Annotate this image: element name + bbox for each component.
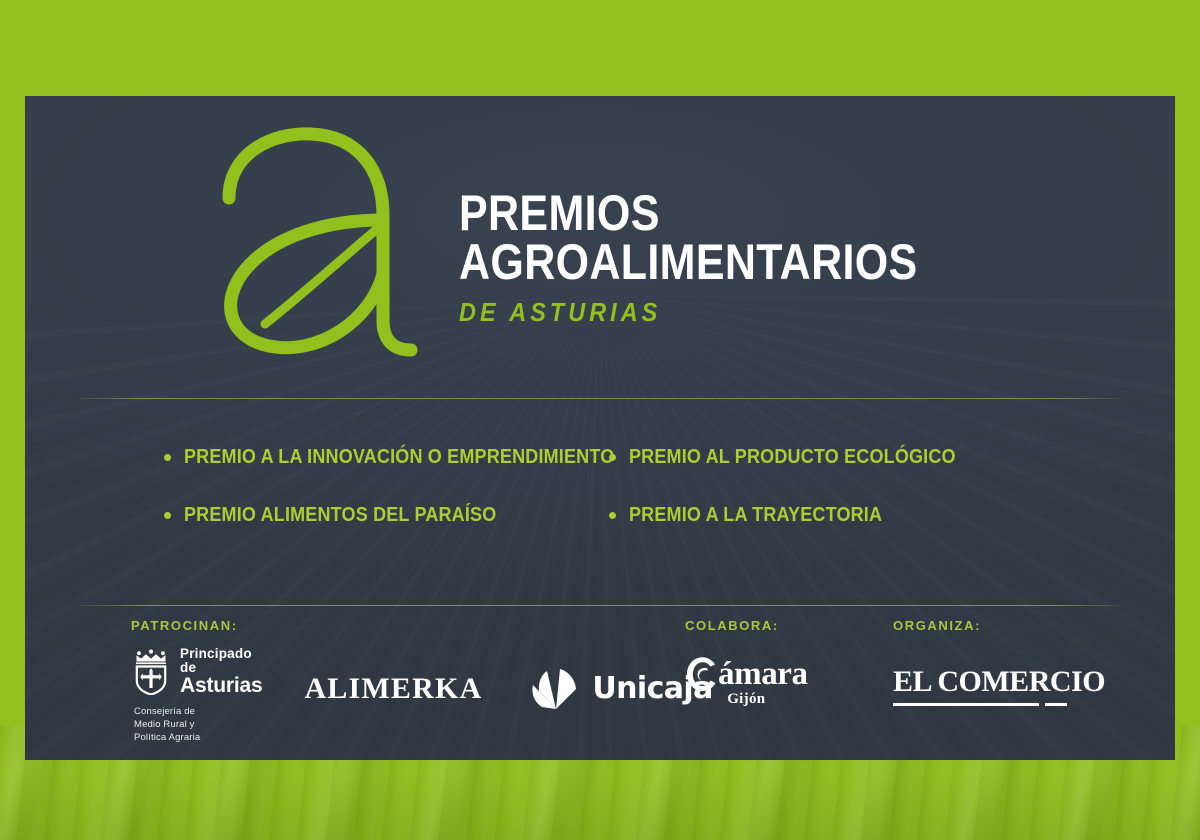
title-line-agroalimentarios: AGROALIMENTARIOS	[459, 238, 918, 287]
sponsor-caption-organiza: ORGANIZA:	[893, 618, 1123, 633]
sponsor-group-colabora: COLABORA: ámara	[685, 618, 865, 708]
award-item: PREMIO A LA TRAYECTORIA	[609, 486, 1054, 544]
sponsor-caption-colabora: COLABORA:	[685, 618, 865, 633]
sponsor-group-patrocinan: PATROCINAN:	[131, 618, 661, 744]
title-subtitle: DE ASTURIAS	[459, 297, 939, 328]
camara-wordmark: ámara	[718, 656, 808, 693]
title-line-premios: PREMIOS	[459, 189, 918, 238]
award-label: PREMIO A LA TRAYECTORIA	[629, 504, 882, 527]
logo-principado-de-asturias: Principado de Asturias Consejería de Med…	[131, 647, 262, 744]
asturias-line1: Principado de	[180, 647, 262, 674]
unicaja-fan-icon	[530, 667, 582, 711]
sponsors-strip: PATROCINAN:	[25, 618, 1175, 760]
award-item: PREMIO ALIMENTOS DEL PARAÍSO	[164, 486, 609, 544]
logo-el-comercio: EL COMERCIO	[893, 665, 1105, 706]
bullet-icon	[164, 454, 171, 461]
title-block: PREMIOS AGROALIMENTARIOS DE ASTURIAS	[459, 155, 992, 328]
camara-c-swirl-icon	[685, 655, 719, 693]
awards-list: PREMIO A LA INNOVACIÓN O EMPRENDIMIENTO …	[25, 428, 1175, 544]
divider-top	[80, 398, 1120, 399]
award-item: PREMIO A LA INNOVACIÓN O EMPRENDIMIENTO	[164, 428, 609, 486]
rule-short	[1045, 703, 1067, 706]
award-label: PREMIO ALIMENTOS DEL PARAÍSO	[184, 504, 496, 527]
el-comercio-wordmark: EL COMERCIO	[893, 665, 1105, 699]
camara-sub-gijon: Gijón	[727, 691, 765, 708]
asturias-department: Consejería de Medio Rural y Política Agr…	[134, 705, 262, 744]
divider-bottom	[80, 605, 1120, 606]
award-label: PREMIO AL PRODUCTO ECOLÓGICO	[629, 446, 956, 469]
award-item: PREMIO AL PRODUCTO ECOLÓGICO	[609, 428, 1054, 486]
asturias-line2: Asturias	[180, 675, 262, 696]
rule-long	[893, 703, 1039, 706]
leaf-a-logo-icon	[207, 124, 433, 364]
content-panel: PREMIOS AGROALIMENTARIOS DE ASTURIAS PRE…	[25, 96, 1175, 760]
sponsor-caption-patrocinan: PATROCINAN:	[131, 618, 661, 633]
logo-camara-gijon: ámara Gijón	[685, 655, 808, 708]
bullet-icon	[609, 512, 616, 519]
crowned-shield-cross-icon	[131, 649, 171, 695]
poster-root: PREMIOS AGROALIMENTARIOS DE ASTURIAS PRE…	[0, 0, 1200, 840]
logo-alimerka: ALIMERKA	[304, 672, 482, 706]
el-comercio-rules	[893, 703, 1105, 706]
sponsor-group-organiza: ORGANIZA: EL COMERCIO	[893, 618, 1123, 706]
poster-header: PREMIOS AGROALIMENTARIOS DE ASTURIAS	[25, 96, 1175, 386]
award-label: PREMIO A LA INNOVACIÓN O EMPRENDIMIENTO	[184, 446, 614, 469]
bullet-icon	[164, 512, 171, 519]
